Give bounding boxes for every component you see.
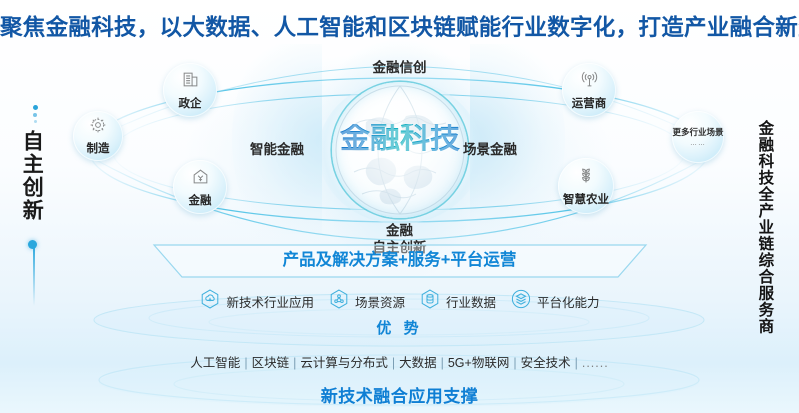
bank-yuan-icon bbox=[191, 167, 210, 191]
node-label: 智慧农业 bbox=[563, 191, 609, 207]
node-yunyingshang[interactable]: 运营商 bbox=[562, 63, 616, 117]
cloud-hex-icon bbox=[199, 288, 221, 315]
node-label: 更多行业场景 bbox=[672, 128, 723, 138]
molecule-hex-icon bbox=[328, 288, 350, 315]
ellipsis-icon: …… bbox=[690, 140, 706, 147]
node-label: 制造 bbox=[87, 140, 110, 156]
ring-label-right: 场景金融 bbox=[463, 138, 517, 158]
technology-more: ...... bbox=[582, 356, 609, 370]
node-zhengqi[interactable]: 政企 bbox=[163, 63, 217, 117]
node-jinrong[interactable]: 金融 bbox=[173, 160, 227, 214]
node-label: 政企 bbox=[179, 95, 202, 111]
ring-label-left: 智能金融 bbox=[250, 138, 304, 158]
node-zhihuinongye[interactable]: 智慧农业 bbox=[558, 158, 614, 214]
layers-hex-icon bbox=[510, 288, 532, 315]
technology-item: 5G+物联网 bbox=[448, 356, 509, 370]
capability-item[interactable]: 场景资源 bbox=[328, 288, 405, 315]
node-zhizao[interactable]: 制造 bbox=[73, 111, 123, 161]
node-more-scenarios[interactable]: 更多行业场景 …… bbox=[672, 111, 724, 163]
signal-tower-icon bbox=[580, 70, 599, 94]
separator: | bbox=[392, 356, 395, 370]
banner-label: 产品及解决方案+服务+平台运营 bbox=[0, 246, 799, 270]
capability-item[interactable]: 新技术行业应用 bbox=[199, 288, 314, 315]
technology-item: 人工智能 bbox=[190, 356, 240, 370]
capability-label: 平台化能力 bbox=[537, 292, 600, 311]
node-label: 运营商 bbox=[572, 95, 607, 111]
capability-item[interactable]: 平台化能力 bbox=[510, 288, 600, 315]
capability-label: 新技术行业应用 bbox=[226, 292, 314, 311]
infographic-canvas: 聚焦金融科技，以大数据、人工智能和区块链赋能行业数字化，打造产业融合新生态 自主… bbox=[0, 0, 799, 413]
technology-item: 安全技术 bbox=[521, 356, 571, 370]
separator: | bbox=[441, 356, 444, 370]
node-label: 金融 bbox=[189, 192, 212, 208]
gear-icon bbox=[89, 116, 107, 139]
separator: | bbox=[575, 356, 578, 370]
capability-row: 新技术行业应用 场景资源 行业数据 bbox=[0, 288, 799, 315]
separator: | bbox=[293, 356, 296, 370]
database-hex-icon bbox=[419, 288, 441, 315]
capability-item[interactable]: 行业数据 bbox=[419, 288, 496, 315]
center-keyword: 金融科技 bbox=[332, 124, 468, 154]
support-label: 新技术融合应用支撑 bbox=[0, 382, 799, 407]
building-icon bbox=[181, 70, 200, 94]
separator: | bbox=[513, 356, 516, 370]
separator: | bbox=[244, 356, 247, 370]
ring-label-bottom-line1: 金融 bbox=[386, 223, 413, 238]
wheat-icon bbox=[576, 165, 596, 190]
technology-list: 人工智能|区块链|云计算与分布式|大数据|5G+物联网|安全技术|...... bbox=[0, 352, 799, 371]
advantage-label: 优 势 bbox=[0, 317, 799, 338]
ring-label-top: 金融信创 bbox=[0, 56, 799, 76]
capability-label: 行业数据 bbox=[446, 292, 496, 311]
technology-item: 区块链 bbox=[252, 356, 290, 370]
capability-label: 场景资源 bbox=[355, 292, 405, 311]
technology-item: 大数据 bbox=[399, 356, 437, 370]
technology-item: 云计算与分布式 bbox=[300, 356, 388, 370]
